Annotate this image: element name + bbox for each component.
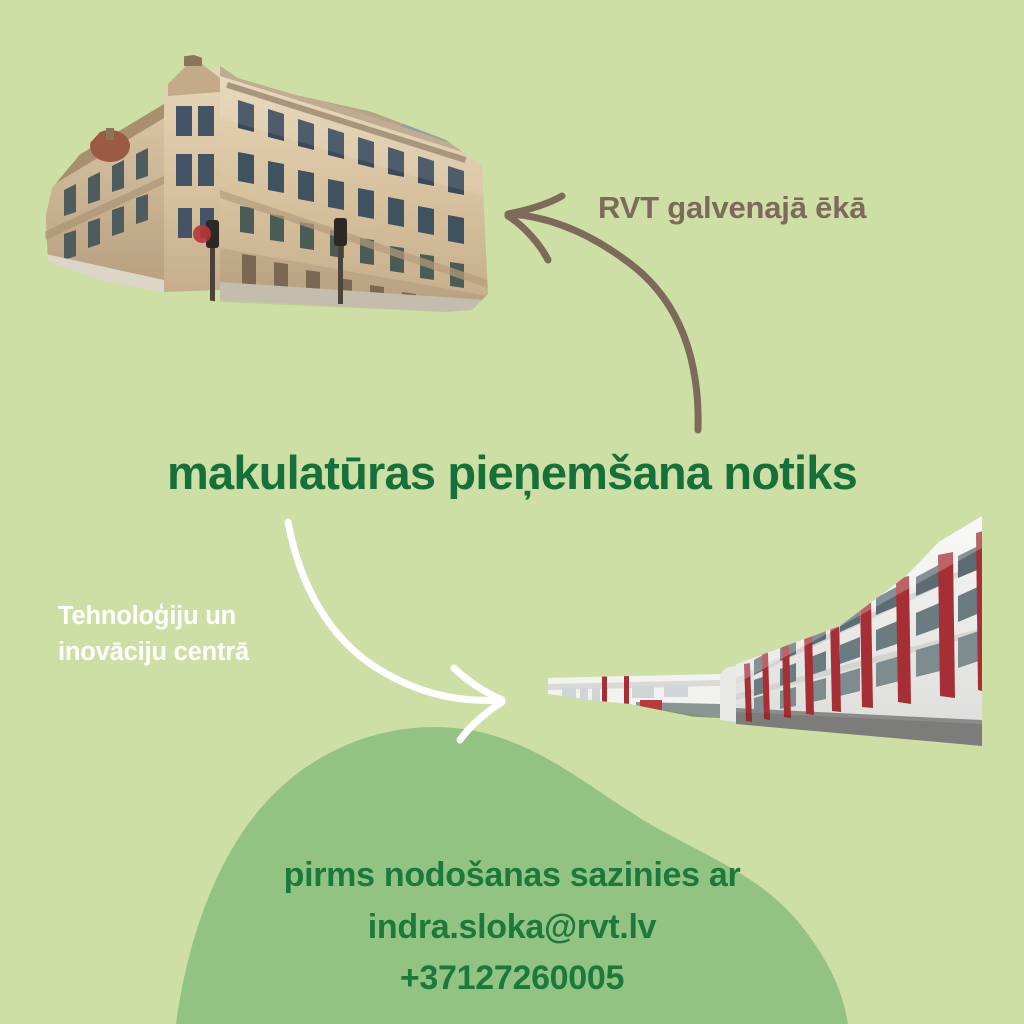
page-title: makulatūras pieņemšana notiks: [0, 445, 1024, 500]
callout-innovation-centre-label: Tehnoloģiju un inovāciju centrā: [58, 598, 358, 670]
contact-block: pirms nodošanas sazinies ar indra.sloka@…: [0, 850, 1024, 1005]
contact-phone[interactable]: +37127260005: [0, 953, 1024, 1005]
callout-main-building-label: RVT galvenajā ēkā: [598, 190, 866, 226]
brown-arrow-icon: [508, 196, 698, 430]
contact-instruction: pirms nodošanas sazinies ar: [0, 850, 1024, 902]
callout-innovation-centre-line2: inovāciju centrā: [58, 638, 249, 666]
photo-rvt-main-building: [42, 48, 494, 323]
contact-email[interactable]: indra.sloka@rvt.lv: [0, 902, 1024, 954]
photo-technology-innovation-centre: [540, 508, 986, 753]
callout-innovation-centre-line1: Tehnoloģiju un: [58, 602, 236, 630]
poster-canvas: RVT galvenajā ēkā makulatūras pieņemšana…: [0, 0, 1024, 1024]
